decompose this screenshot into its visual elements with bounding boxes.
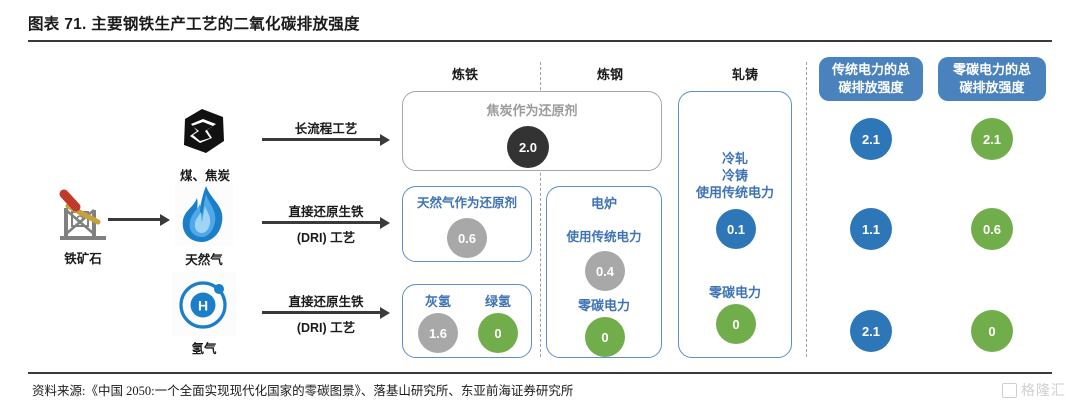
total-circle-conventional-row1: 2.1 [850, 118, 892, 160]
watermark-logo-icon [1002, 383, 1017, 398]
process-label-green-hydrogen: 绿氢 [469, 293, 527, 310]
summary-header-zero-carbon-power-label: 零碳电力的总 碳排放强度 [953, 61, 1031, 97]
arrow-label-dri-h2-bottom: (DRI) 工艺 [262, 317, 390, 336]
column-header-rolling-casting: 轧铸 [680, 64, 810, 83]
arrow-route-dri-natural-gas: 直接还原生铁 (DRI) 工艺 [262, 221, 390, 224]
total-circle-zero-carbon-row2: 0.6 [971, 208, 1013, 250]
process-label-coke-reductant: 焦炭作为还原剂 [403, 102, 661, 119]
process-label-eaf-conventional: 使用传统电力 [547, 229, 661, 246]
process-label-gray-hydrogen: 灰氢 [409, 293, 467, 310]
process-label-eaf-title: 电炉 [547, 195, 661, 212]
watermark-label: 格隆汇 [1021, 380, 1066, 400]
value-circle-rolling-conventional: 0.1 [716, 209, 756, 249]
arrow-route-dri-hydrogen: 直接还原生铁 (DRI) 工艺 [262, 311, 390, 314]
total-circle-conventional-row2: 1.1 [850, 208, 892, 250]
process-label-natural-gas-reductant: 天然气作为还原剂 [403, 195, 531, 212]
value-circle-eaf-zero-carbon: 0 [585, 317, 625, 357]
arrow-label-dri-ng-bottom: (DRI) 工艺 [262, 227, 390, 246]
total-circle-zero-carbon-row3: 0 [971, 310, 1013, 352]
figure-canvas: 图表 71. 主要钢铁生产工艺的二氧化碳排放强度 炼铁 炼钢 轧铸 传统电力的总… [0, 0, 1080, 410]
input-label-hydrogen: 氢气 [176, 338, 232, 357]
process-box-hydrogen-reductant: 灰氢 绿氢 1.6 0 [402, 284, 532, 358]
title-bar: 图表 71. 主要钢铁生产工艺的二氧化碳排放强度 [28, 12, 1052, 44]
arrow-iron-ore-to-feedstock [108, 218, 170, 221]
total-circle-conventional-row3: 2.1 [850, 310, 892, 352]
input-label-iron-ore: 铁矿石 [42, 248, 124, 267]
footer-divider [28, 372, 1052, 374]
column-header-ironmaking: 炼铁 [390, 64, 540, 83]
flame-icon [175, 182, 233, 246]
value-circle-coke-reductant: 2.0 [507, 126, 549, 168]
source-note: 资料来源:《中国 2050:一个全面实现现代化国家的零碳图景》、落基山研究所、东… [32, 380, 573, 399]
value-circle-gray-hydrogen: 1.6 [418, 313, 458, 353]
process-box-coke-reductant: 焦炭作为还原剂 2.0 [402, 91, 662, 171]
arrow-label-dri-ng-top: 直接还原生铁 [262, 201, 390, 220]
watermark: 格隆汇 [1002, 380, 1066, 400]
arrow-route-long-process: 长流程工艺 [262, 138, 390, 141]
process-box-rolling-casting: 冷轧 冷铸 使用传统电力 0.1 零碳电力 0 [678, 91, 792, 358]
process-label-rolling-conventional: 冷轧 冷铸 使用传统电力 [679, 150, 791, 201]
process-label-rolling-zero-carbon: 零碳电力 [679, 284, 791, 301]
summary-header-zero-carbon-power: 零碳电力的总 碳排放强度 [938, 57, 1046, 101]
summary-header-conventional-power-label: 传统电力的总 碳排放强度 [832, 61, 910, 97]
process-box-eaf: 电炉 使用传统电力 0.4 零碳电力 0 [546, 186, 662, 358]
coal-lump-icon [178, 105, 230, 157]
hydrogen-atom-icon: H [172, 272, 236, 336]
input-label-natural-gas: 天然气 [168, 249, 240, 268]
summary-header-conventional-power: 传统电力的总 碳排放强度 [819, 57, 923, 101]
process-box-natural-gas-reductant: 天然气作为还原剂 0.6 [402, 186, 532, 262]
value-circle-green-hydrogen: 0 [478, 313, 518, 353]
page-title: 图表 71. 主要钢铁生产工艺的二氧化碳排放强度 [28, 12, 1052, 34]
value-circle-natural-gas-reductant: 0.6 [447, 218, 487, 258]
process-label-eaf-zero-carbon: 零碳电力 [547, 297, 661, 314]
oil-pumpjack-icon [52, 188, 114, 244]
value-circle-rolling-zero-carbon: 0 [716, 304, 756, 344]
arrow-label-dri-h2-top: 直接还原生铁 [262, 291, 390, 310]
column-header-steelmaking: 炼钢 [545, 64, 675, 83]
value-circle-eaf-conventional: 0.4 [585, 251, 625, 291]
arrow-label-long-process: 长流程工艺 [262, 118, 390, 137]
title-divider [28, 40, 1052, 42]
separator-process-totals [806, 62, 807, 357]
svg-text:H: H [198, 298, 208, 314]
total-circle-zero-carbon-row1: 2.1 [971, 118, 1013, 160]
